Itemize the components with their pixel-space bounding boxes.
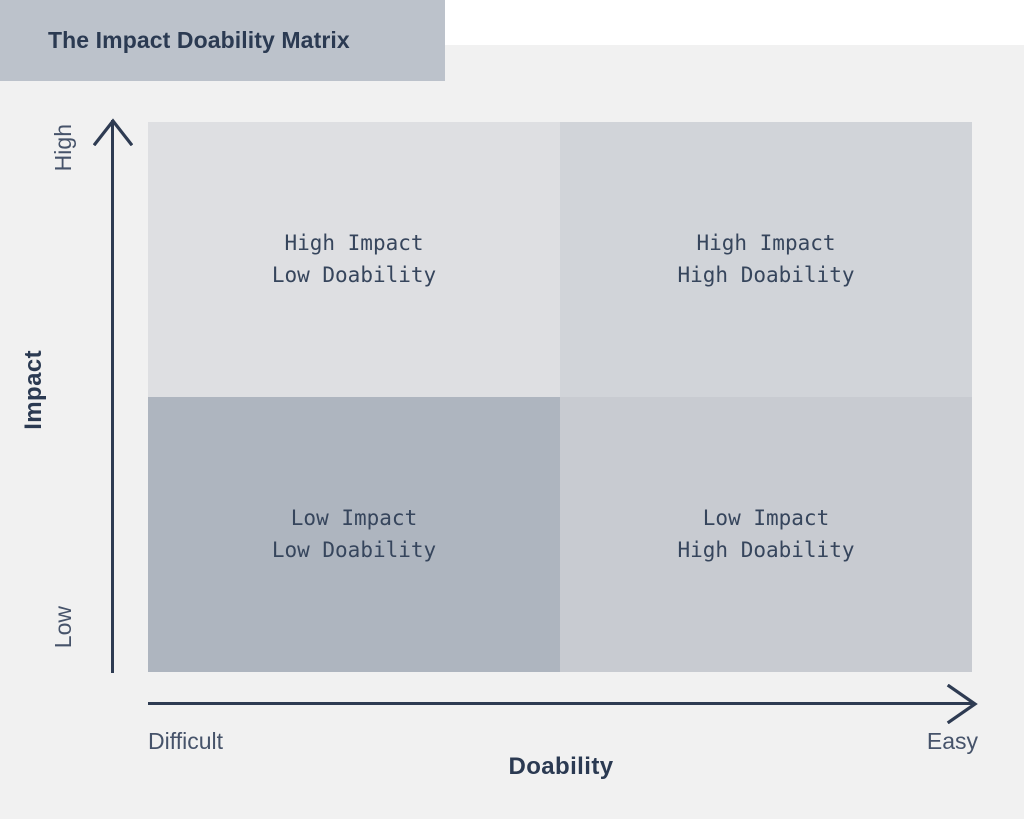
quadrant-label-line2: High Doability <box>677 535 854 566</box>
quadrant-label-line1: Low Impact <box>703 503 829 534</box>
impact-doability-matrix: High Impact Low Doability High Impact Hi… <box>148 122 972 672</box>
y-axis-label-high: High <box>52 124 75 171</box>
arrow-up-icon <box>93 118 133 146</box>
x-axis-label-easy: Easy <box>920 730 978 753</box>
x-axis-label-difficult: Difficult <box>148 730 223 753</box>
arrow-right-icon <box>946 684 978 724</box>
quadrant-label-line2: Low Doability <box>272 535 436 566</box>
y-axis-line <box>111 120 114 673</box>
title-banner: The Impact Doability Matrix <box>0 0 445 81</box>
page-title: The Impact Doability Matrix <box>48 29 350 52</box>
y-axis-title: Impact <box>22 350 46 430</box>
quadrant-label-line2: Low Doability <box>272 260 436 291</box>
quadrant-low-impact-low-doability: Low Impact Low Doability <box>148 397 560 672</box>
quadrant-label-line1: Low Impact <box>291 503 417 534</box>
x-axis-title: Doability <box>0 755 1024 779</box>
quadrant-high-impact-high-doability: High Impact High Doability <box>560 122 972 397</box>
quadrant-label-line1: High Impact <box>696 228 835 259</box>
quadrant-low-impact-high-doability: Low Impact High Doability <box>560 397 972 672</box>
quadrant-label-line1: High Impact <box>284 228 423 259</box>
y-axis-label-low: Low <box>52 606 75 648</box>
quadrant-label-line2: High Doability <box>677 260 854 291</box>
x-axis-line <box>148 702 972 705</box>
quadrant-high-impact-low-doability: High Impact Low Doability <box>148 122 560 397</box>
